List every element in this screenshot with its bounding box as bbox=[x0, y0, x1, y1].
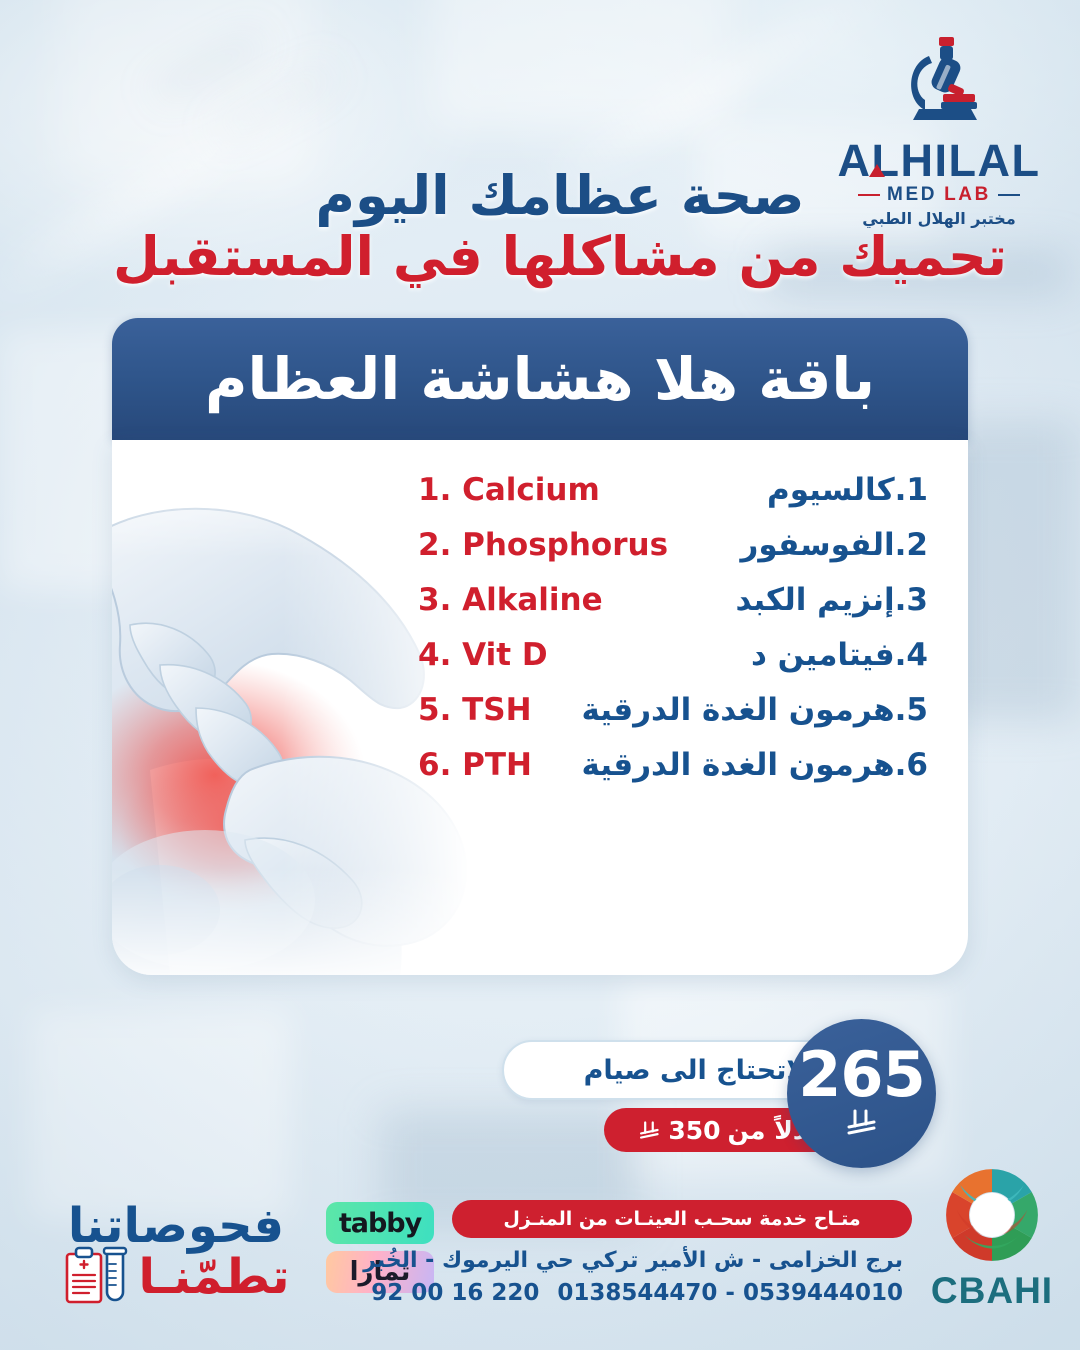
test-name-ar: 1.كالسيوم bbox=[698, 472, 928, 508]
price-badge: 265 bbox=[787, 1019, 936, 1168]
home-sampling-badge: متـاح خدمة سحـب العينـات من المنـزل bbox=[452, 1200, 912, 1238]
cbahi-label: CBAHI bbox=[918, 1270, 1066, 1312]
clipboard-and-test-tube-icon bbox=[63, 1246, 135, 1308]
test-name-en: 1. Calcium bbox=[418, 472, 680, 508]
cbahi-ring-icon bbox=[939, 1162, 1045, 1268]
slogan: فحوصاتنا تطمّنـا bbox=[48, 1202, 304, 1308]
slogan-line-1: فحوصاتنا bbox=[48, 1202, 304, 1250]
cbahi-accreditation: CBAHI bbox=[918, 1162, 1066, 1312]
no-fasting-text: لاتحتاج الى صيام bbox=[584, 1055, 807, 1086]
test-name-ar: 5.هرمون الغدة الدرقية bbox=[581, 692, 928, 728]
price-amount: 265 bbox=[798, 1048, 924, 1103]
list-item: 2.الفوسفور 2. Phosphorus bbox=[418, 517, 928, 572]
tabby-label: tabby bbox=[339, 1208, 421, 1239]
list-item: 4.فيتامين د 4. Vit D bbox=[418, 627, 928, 682]
test-name-en: 4. Vit D bbox=[418, 637, 680, 673]
phone-line: 0138544470 - 0539444010 92 00 16 220 bbox=[452, 1280, 912, 1306]
list-item: 1.كالسيوم 1. Calcium bbox=[418, 462, 928, 517]
test-name-ar: 4.فيتامين د bbox=[698, 637, 928, 673]
microscope-icon bbox=[891, 34, 987, 138]
knee-pain-photo bbox=[112, 440, 470, 975]
test-name-en: 5. TSH bbox=[418, 692, 563, 728]
test-name-ar: 3.إنزيم الكبد bbox=[698, 582, 928, 618]
slogan-line-2: تطمّنـا bbox=[139, 1253, 290, 1301]
home-sampling-text: متـاح خدمة سحـب العينـات من المنـزل bbox=[503, 1208, 860, 1230]
address-line: برج الخزامى - ش الأمير تركي حي اليرموك -… bbox=[452, 1248, 912, 1273]
payment-badge-tabby[interactable]: tabby bbox=[326, 1202, 434, 1244]
contact-block: متـاح خدمة سحـب العينـات من المنـزل برج … bbox=[452, 1200, 912, 1306]
headline-line-1: صحة عظامك اليوم bbox=[40, 168, 1080, 225]
address-text: برج الخزامى - ش الأمير تركي حي اليرموك -… bbox=[363, 1248, 903, 1273]
phone-number[interactable]: 92 00 16 220 bbox=[371, 1280, 539, 1306]
headline-line-2: تحميك من مشاكلها في المستقبل bbox=[40, 227, 1080, 286]
list-item: 5.هرمون الغدة الدرقية 5. TSH bbox=[418, 682, 928, 737]
test-name-en: 3. Alkaline bbox=[418, 582, 680, 618]
list-item: 3.إنزيم الكبد 3. Alkaline bbox=[418, 572, 928, 627]
list-item: 6.هرمون الغدة الدرقية 6. PTH bbox=[418, 737, 928, 792]
whatsapp-numbers[interactable]: 0138544470 - 0539444010 bbox=[557, 1280, 903, 1306]
package-content-card: 1.كالسيوم 1. Calcium 2.الفوسفور 2. Phosp… bbox=[112, 440, 968, 975]
old-price-amount: 350 bbox=[668, 1116, 720, 1145]
package-title: باقة هلا هشاشة العظام bbox=[205, 345, 875, 413]
package-title-banner: باقة هلا هشاشة العظام bbox=[112, 318, 968, 440]
riyal-symbol-icon bbox=[639, 1119, 661, 1141]
test-name-ar: 6.هرمون الغدة الدرقية bbox=[581, 747, 928, 783]
riyal-symbol-icon bbox=[845, 1107, 879, 1139]
tests-list: 1.كالسيوم 1. Calcium 2.الفوسفور 2. Phosp… bbox=[418, 462, 928, 792]
test-name-en: 2. Phosphorus bbox=[418, 527, 680, 563]
test-name-en: 6. PTH bbox=[418, 747, 563, 783]
headline: صحة عظامك اليوم تحميك من مشاكلها في المس… bbox=[0, 168, 1080, 286]
test-name-ar: 2.الفوسفور bbox=[698, 527, 928, 563]
